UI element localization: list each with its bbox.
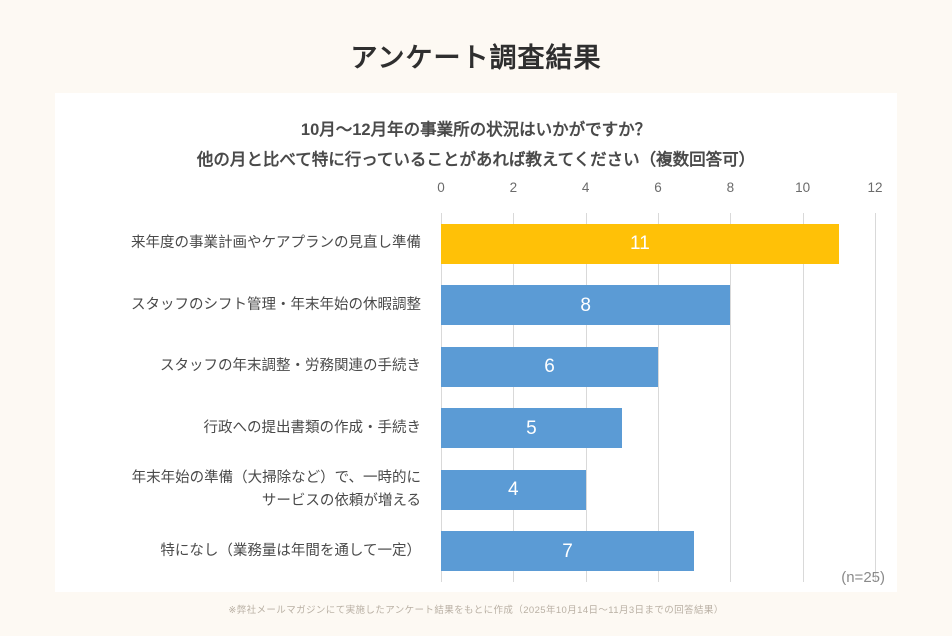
category-label: 年末年始の準備（大掃除など）で、一時的にサービスの依頼が増える [55,467,421,513]
x-tick-label: 8 [727,180,735,195]
bar-value-label: 8 [580,296,591,315]
chart-question: 10月～12月年の事業所の状況はいかがですか？ 他の月と比べて特に行っていること… [55,115,897,175]
bar-value-label: 6 [544,357,555,376]
bar-value-label: 5 [526,419,537,438]
category-label: 来年度の事業計画やケアプランの見直し準備 [55,232,421,255]
x-axis-tick-labels: 024681012 [441,180,875,202]
footnote: ※弊社メールマガジンにて実施したアンケート結果をもとに作成（2025年10月14… [0,602,952,616]
bar[interactable]: 6 [441,347,658,387]
category-label: スタッフの年末調整・労務関連の手続き [55,355,421,378]
bar-row[interactable]: 5 [441,398,875,460]
bar-value-label: 11 [630,234,650,253]
bar-row[interactable]: 4 [441,459,875,521]
bar-row[interactable]: 8 [441,275,875,337]
chart-card: 10月～12月年の事業所の状況はいかがですか？ 他の月と比べて特に行っていること… [55,93,897,592]
bar[interactable]: 7 [441,531,694,571]
bar-row[interactable]: 6 [441,336,875,398]
bar-highlighted[interactable]: 11 [441,224,839,264]
x-tick-label: 2 [510,180,518,195]
page-title: アンケート調査結果 [0,36,952,75]
category-label: スタッフのシフト管理・年末年始の休暇調整 [55,294,421,317]
sample-size-annotation: (n=25) [841,569,885,586]
plot-area: 1186547 [441,213,875,582]
bar[interactable]: 4 [441,470,586,510]
bar-row[interactable]: 11 [441,213,875,275]
bar-value-label: 7 [562,542,573,561]
bar-row[interactable]: 7 [441,521,875,583]
gridline [875,213,876,582]
question-line-1: 10月～12月年の事業所の状況はいかがですか？ [55,115,897,145]
question-line-2: 他の月と比べて特に行っていることがあれば教えてください（複数回答可） [55,145,897,175]
x-tick-label: 10 [795,180,810,195]
bar[interactable]: 8 [441,285,730,325]
x-tick-label: 6 [654,180,662,195]
bar[interactable]: 5 [441,408,622,448]
category-label: 特になし（業務量は年間を通して一定） [55,540,421,563]
y-axis-category-labels: 来年度の事業計画やケアプランの見直し準備スタッフのシフト管理・年末年始の休暇調整… [55,213,431,582]
x-tick-label: 4 [582,180,590,195]
bar-value-label: 4 [508,480,519,499]
category-label: 行政への提出書類の作成・手続き [55,417,421,440]
x-tick-label: 12 [867,180,882,195]
x-tick-label: 0 [437,180,445,195]
